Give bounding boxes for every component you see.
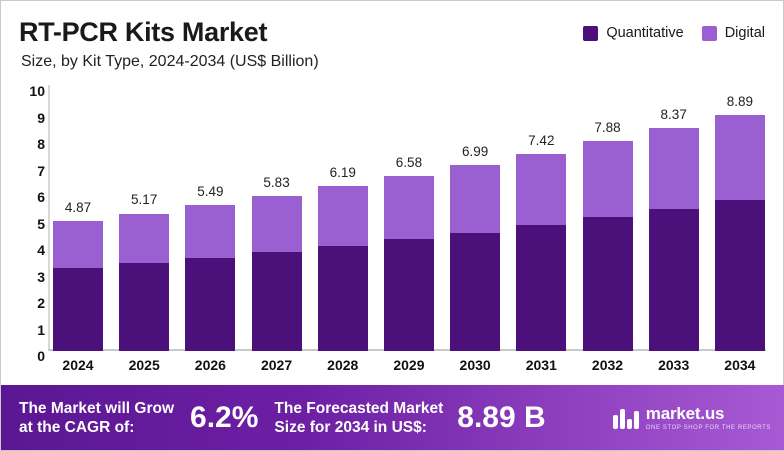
bar-segment-digital[interactable] [450,165,500,233]
cagr-value: 6.2% [190,401,258,435]
y-axis-tick: 10 [19,83,45,99]
bar-column[interactable]: 5.83 [252,85,302,351]
x-axis-tick: 2028 [318,357,368,373]
legend-label-digital: Digital [725,25,765,41]
cagr-caption: The Market will Grow at the CAGR of: [19,399,174,437]
brand-name: market.us [646,405,771,422]
chart-footer: The Market will Grow at the CAGR of: 6.2… [1,385,784,450]
legend-swatch-digital [702,26,717,41]
bar-value-label: 7.42 [528,133,554,148]
bar-column[interactable]: 5.49 [185,85,235,351]
bar-segment-quantitative[interactable] [252,252,302,351]
legend-swatch-quantitative [583,26,598,41]
y-axis-tick: 6 [19,189,45,205]
bar-value-label: 4.87 [65,200,91,215]
bar-segment-digital[interactable] [583,141,633,217]
chart-legend: Quantitative Digital [583,25,765,41]
forecast-caption-line1: The Forecasted Market [274,400,443,417]
x-axis-tick: 2024 [53,357,103,373]
bar-segment-digital[interactable] [318,186,368,246]
bar-segment-digital[interactable] [649,128,699,208]
bar-segment-digital[interactable] [185,205,235,258]
bar-group: 4.875.175.495.836.196.586.997.427.888.37… [53,85,765,351]
bar-value-label: 8.89 [727,94,753,109]
legend-label-quantitative: Quantitative [606,25,683,41]
x-axis-tick: 2026 [185,357,235,373]
bar-segment-quantitative[interactable] [119,263,169,351]
bar-column[interactable]: 5.17 [119,85,169,351]
bar-segment-quantitative[interactable] [583,217,633,351]
x-axis-tick: 2034 [715,357,765,373]
page-title: RT-PCR Kits Market [19,17,267,48]
bar-column[interactable]: 8.89 [715,85,765,351]
bar-segment-quantitative[interactable] [450,233,500,351]
x-axis: 2024202520262027202820292030203120322033… [53,357,765,373]
y-axis-tick: 3 [19,269,45,285]
bar-segment-digital[interactable] [252,196,302,252]
y-axis-tick: 4 [19,242,45,258]
page-subtitle: Size, by Kit Type, 2024-2034 (US$ Billio… [21,53,319,71]
bar-segment-digital[interactable] [516,154,566,226]
bar-column[interactable]: 4.87 [53,85,103,351]
x-axis-tick: 2033 [649,357,699,373]
y-axis-tick: 1 [19,322,45,338]
x-axis-tick: 2029 [384,357,434,373]
bar-column[interactable]: 8.37 [649,85,699,351]
bar-value-label: 6.58 [396,155,422,170]
market-us-glyph-icon [613,407,639,429]
bar-value-label: 5.83 [263,175,289,190]
forecast-value: 8.89 B [457,401,545,435]
cagr-caption-line1: The Market will Grow [19,400,174,417]
bar-segment-quantitative[interactable] [649,209,699,351]
bar-segment-quantitative[interactable] [185,258,235,351]
y-axis-tick: 5 [19,216,45,232]
forecast-caption-line2: Size for 2034 in US$: [274,419,426,436]
chart-header: RT-PCR Kits Market Size, by Kit Type, 20… [1,1,784,79]
bar-value-label: 6.99 [462,144,488,159]
brand-text: market.us ONE STOP SHOP FOR THE REPORTS [646,405,771,431]
bar-column[interactable]: 6.99 [450,85,500,351]
bar-value-label: 5.17 [131,192,157,207]
bar-segment-digital[interactable] [715,115,765,200]
x-axis-tick: 2030 [450,357,500,373]
bar-value-label: 7.88 [594,120,620,135]
chart-plot-area: 012345678910 4.875.175.495.836.196.586.9… [1,79,784,379]
y-axis-tick: 2 [19,295,45,311]
forecast-caption: The Forecasted Market Size for 2034 in U… [274,399,443,437]
legend-item-quantitative: Quantitative [583,25,683,41]
bar-column[interactable]: 6.58 [384,85,434,351]
y-axis-tick: 9 [19,110,45,126]
x-axis-tick: 2025 [119,357,169,373]
bar-segment-quantitative[interactable] [715,200,765,351]
bar-segment-quantitative[interactable] [516,225,566,351]
bar-column[interactable]: 6.19 [318,85,368,351]
y-axis-line [48,85,50,351]
bar-segment-quantitative[interactable] [318,246,368,351]
bar-value-label: 8.37 [661,107,687,122]
bar-value-label: 5.49 [197,184,223,199]
y-axis-tick: 0 [19,348,45,364]
cagr-caption-line2: at the CAGR of: [19,419,134,436]
brand-tagline: ONE STOP SHOP FOR THE REPORTS [646,425,771,431]
brand-logo: market.us ONE STOP SHOP FOR THE REPORTS [613,405,771,431]
y-axis: 012345678910 [19,85,45,350]
y-axis-tick: 8 [19,136,45,152]
bar-segment-digital[interactable] [53,221,103,268]
x-axis-tick: 2031 [516,357,566,373]
bar-column[interactable]: 7.88 [583,85,633,351]
bar-segment-digital[interactable] [384,176,434,239]
chart-page: RT-PCR Kits Market Size, by Kit Type, 20… [0,0,784,451]
bar-value-label: 6.19 [330,165,356,180]
bar-segment-quantitative[interactable] [384,239,434,351]
bar-segment-quantitative[interactable] [53,268,103,351]
x-axis-tick: 2032 [583,357,633,373]
y-axis-tick: 7 [19,163,45,179]
bar-column[interactable]: 7.42 [516,85,566,351]
x-axis-tick: 2027 [252,357,302,373]
legend-item-digital: Digital [702,25,765,41]
bar-segment-digital[interactable] [119,214,169,264]
